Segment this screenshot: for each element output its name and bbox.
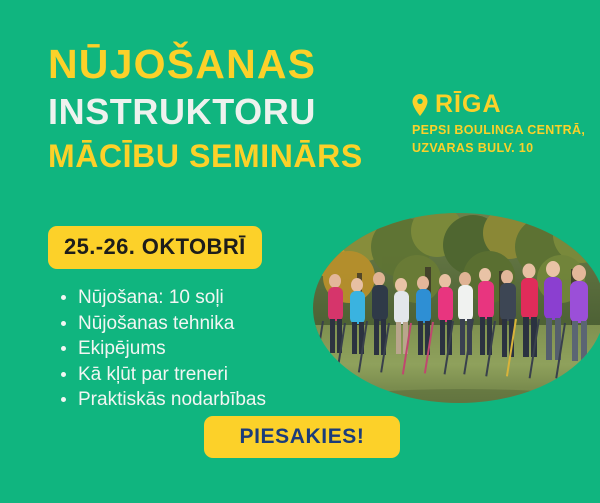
- location-address: PEPSI BOULINGA CENTRĀ, UZVARAS BULV. 10: [412, 122, 592, 158]
- headline-line-1: NŪJOŠANAS: [48, 44, 408, 85]
- list-item: Ekipējums: [58, 336, 266, 362]
- list-item: Kā kļūt par treneri: [58, 362, 266, 388]
- location-address-line-1: PEPSI BOULINGA CENTRĀ,: [412, 122, 592, 140]
- headline-block: NŪJOŠANAS INSTRUKTORU MĀCĪBU SEMINĀRS: [48, 44, 408, 172]
- location-block: RĪGA PEPSI BOULINGA CENTRĀ, UZVARAS BULV…: [412, 92, 592, 158]
- headline-line-3: MĀCĪBU SEMINĀRS: [48, 140, 408, 172]
- poster-canvas: NŪJOŠANAS INSTRUKTORU MĀCĪBU SEMINĀRS RĪ…: [0, 0, 600, 503]
- location-address-line-2: UZVARAS BULV. 10: [412, 140, 592, 158]
- nordic-walking-photo: [313, 213, 600, 403]
- list-item: Praktiskās nodarbības: [58, 387, 266, 413]
- list-item: Nūjošana: 10 soļi: [58, 285, 266, 311]
- map-pin-icon: [412, 94, 428, 116]
- signup-button[interactable]: PIESAKIES!: [204, 416, 400, 458]
- date-badge: 25.-26. OKTOBRĪ: [48, 226, 262, 269]
- list-item: Nūjošanas tehnika: [58, 311, 266, 337]
- headline-line-2: INSTRUKTORU: [48, 94, 408, 130]
- location-city: RĪGA: [435, 92, 502, 117]
- location-city-row: RĪGA: [412, 92, 592, 117]
- topics-list: Nūjošana: 10 soļi Nūjošanas tehnika Ekip…: [58, 285, 266, 413]
